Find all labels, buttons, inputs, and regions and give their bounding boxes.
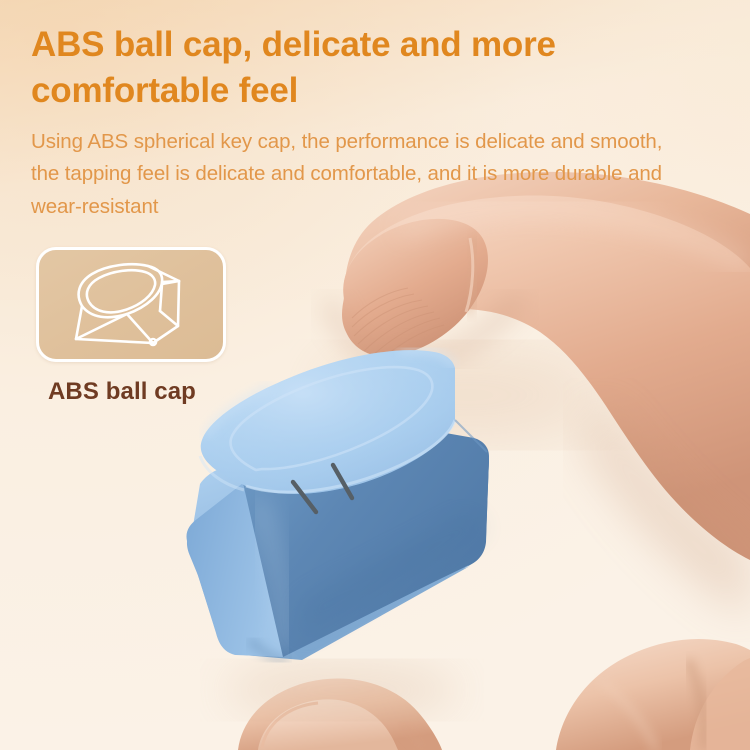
keycap-wireframe-icon xyxy=(39,250,223,359)
page-title: ABS ball cap, delicate and more comforta… xyxy=(31,22,696,113)
badge-card xyxy=(36,247,226,362)
product-marketing-image: ABS ball cap, delicate and more comforta… xyxy=(0,0,750,750)
badge-label: ABS ball cap xyxy=(48,378,226,406)
copy-block: ABS ball cap, delicate and more comforta… xyxy=(31,22,696,223)
feature-badge: ABS ball cap xyxy=(36,247,226,406)
page-description: Using ABS spherical key cap, the perform… xyxy=(31,126,691,223)
blue-keycap xyxy=(186,348,490,716)
lower-fingers xyxy=(556,639,750,750)
